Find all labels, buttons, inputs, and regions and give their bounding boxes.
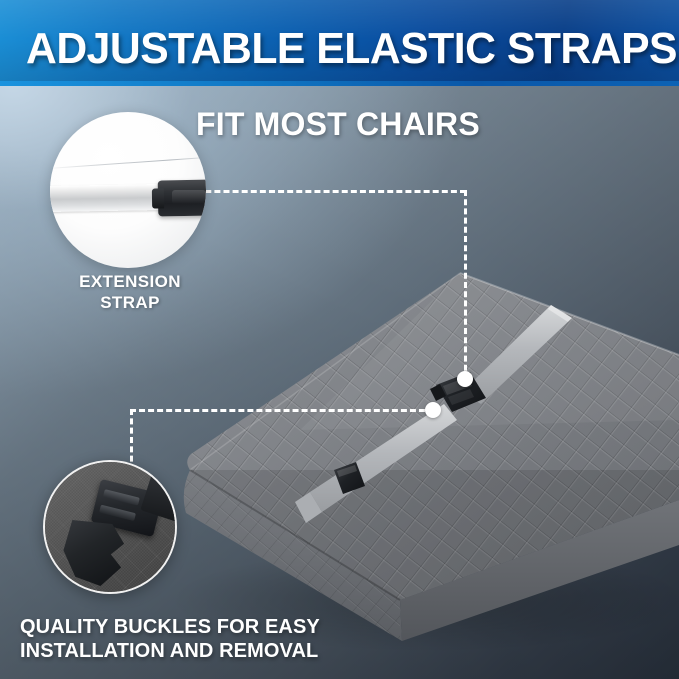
leader-dot-bottom: [425, 402, 441, 418]
buckle-highlight: [172, 190, 206, 204]
headline: FIT MOST CHAIRS: [196, 106, 480, 143]
product-infographic: ADJUSTABLE ELASTIC STRAPS: [0, 0, 679, 679]
banner-title: ADJUSTABLE ELASTIC STRAPS: [26, 24, 677, 74]
leader-dot-top: [457, 371, 473, 387]
label-quality-buckles: QUALITY BUCKLES FOR EASY INSTALLATION AN…: [20, 616, 360, 663]
surface-line: [50, 156, 206, 170]
leader-line-top-horizontal: [178, 190, 466, 193]
callout-circle-quality-buckles: [43, 460, 177, 594]
label-extension-line2: STRAP: [30, 293, 230, 314]
leader-line-top-vertical: [464, 190, 467, 380]
label-extension-line1: EXTENSION: [30, 272, 230, 293]
label-buckles-line1: QUALITY BUCKLES FOR EASY: [20, 616, 360, 640]
header-banner: ADJUSTABLE ELASTIC STRAPS: [0, 0, 679, 86]
callout-circle-extension-strap: [50, 112, 206, 268]
label-buckles-line2: INSTALLATION AND REMOVAL: [20, 640, 360, 664]
leader-line-bottom-horizontal: [130, 409, 434, 412]
label-extension-strap: EXTENSION STRAP: [30, 272, 230, 313]
